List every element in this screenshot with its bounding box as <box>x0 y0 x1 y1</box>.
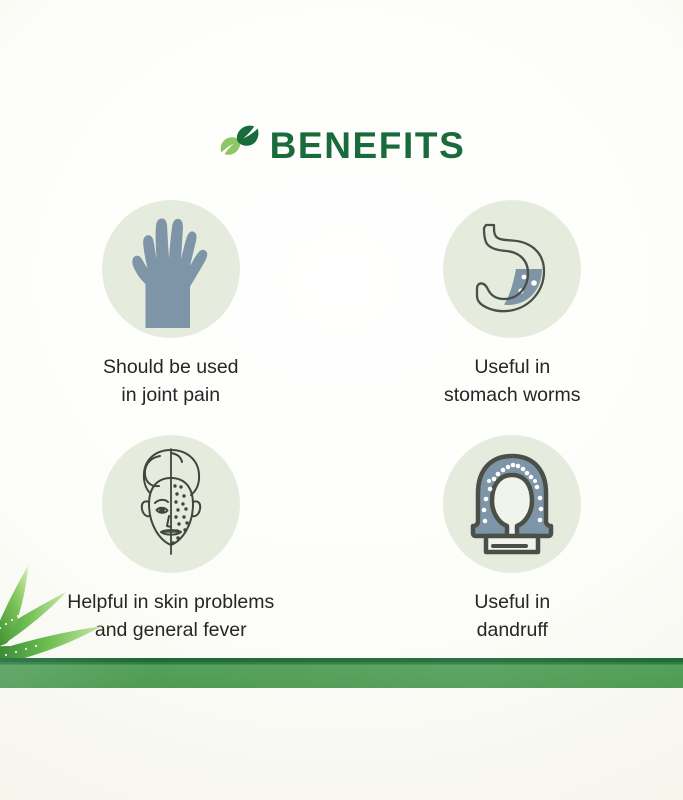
benefit-icon-circle <box>443 435 581 573</box>
dandruff-hair-icon <box>460 451 564 557</box>
split-face-acne-icon <box>119 446 223 562</box>
benefit-icon-circle <box>102 200 240 338</box>
footer-bar-sheen <box>0 658 683 688</box>
page-title: BENEFITS <box>270 127 466 164</box>
benefit-label: Useful in stomach worms <box>444 354 581 409</box>
benefit-item-stomach-worms: Useful in stomach worms <box>342 200 683 409</box>
green-footer-bar <box>0 658 683 688</box>
page-header: BENEFITS <box>0 126 683 164</box>
benefits-infographic: BENEFITS Should be used in joint pain <box>0 0 683 800</box>
arthritic-hand-icon <box>119 210 223 328</box>
two-leaves-icon <box>218 126 260 164</box>
benefit-label: Should be used in joint pain <box>103 354 239 409</box>
stomach-icon <box>464 219 560 319</box>
benefit-label: Useful in dandruff <box>474 589 550 644</box>
benefit-icon-circle <box>443 200 581 338</box>
benefit-item-dandruff: Useful in dandruff <box>342 435 683 644</box>
benefit-item-joint-pain: Should be used in joint pain <box>0 200 342 409</box>
